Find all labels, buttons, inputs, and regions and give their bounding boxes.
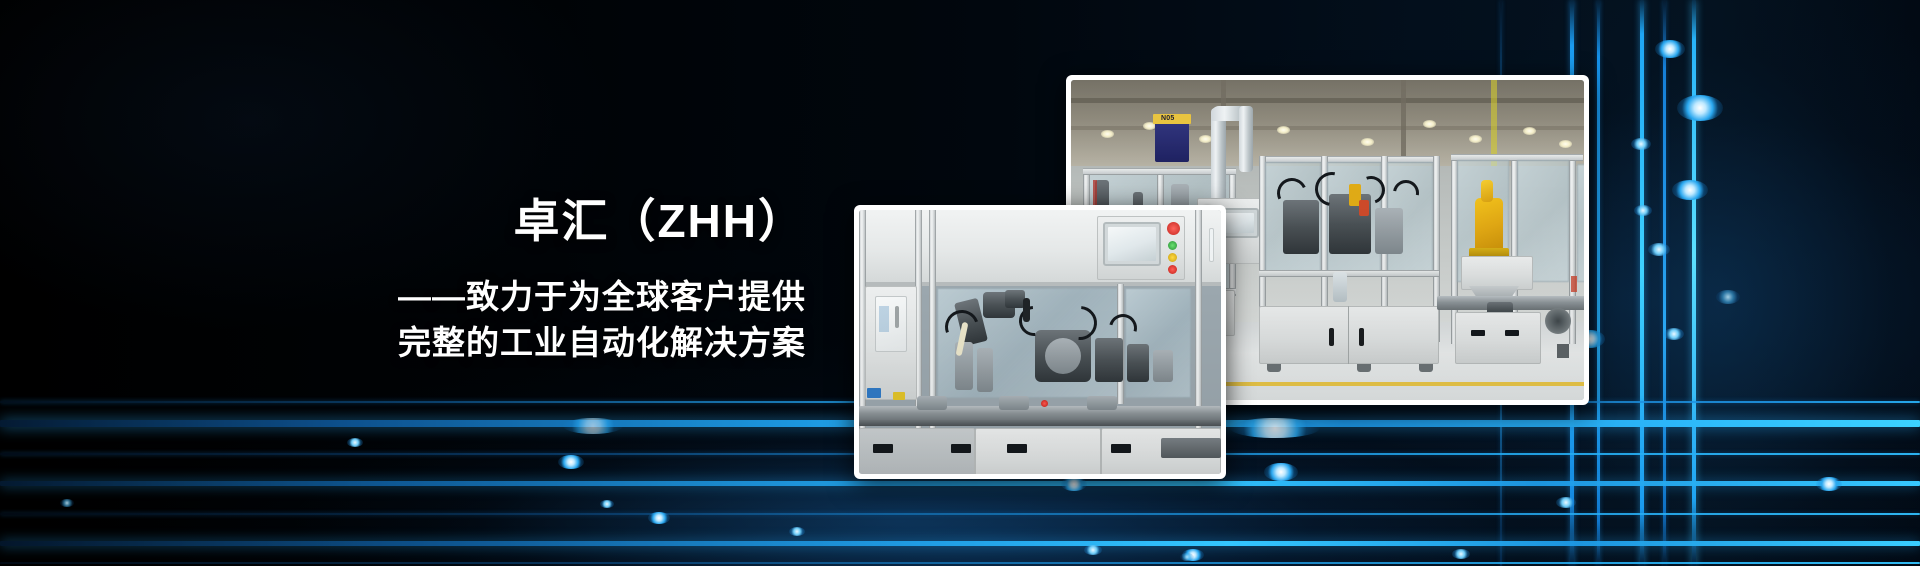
photo-haze bbox=[859, 210, 1221, 474]
hero-text-block: 卓汇（ZHH） ——致力于为全球客户提供 完整的工业自动化解决方案 bbox=[0, 196, 806, 367]
tagline-line-1: ——致力于为全球客户提供 bbox=[0, 274, 806, 321]
photo-inner bbox=[859, 210, 1221, 474]
photo-assembly-station[interactable] bbox=[854, 205, 1226, 479]
tagline-line-2: 完整的工业自动化解决方案 bbox=[0, 320, 806, 367]
assembly-station-scene bbox=[859, 210, 1221, 474]
brand-headline: 卓汇（ZHH） bbox=[0, 196, 806, 248]
hero-banner: N05 bbox=[0, 0, 1920, 566]
